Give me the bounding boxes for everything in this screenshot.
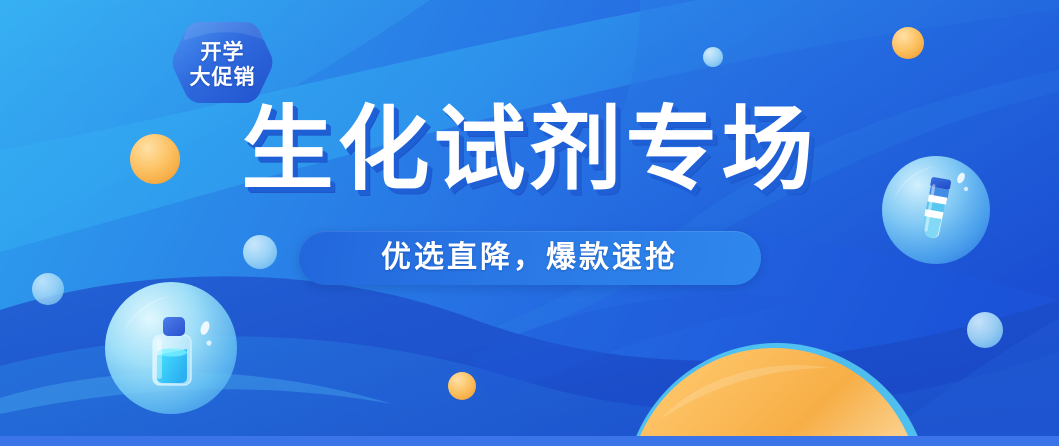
banner-subtitle-text: 优选直降，爆款速抢 <box>381 243 678 273</box>
banner-subtitle-pill[interactable]: 优选直降，爆款速抢 <box>299 231 761 285</box>
banner-title: 生化试剂专场 <box>0 104 1059 196</box>
blue-dot-left-edge <box>32 273 64 305</box>
orange-dot-bottom-center <box>448 372 476 400</box>
blue-dot-mid-left <box>243 235 277 269</box>
promo-banner: 开学 大促销 生化试剂专场 优选直降，爆款速抢 <box>0 0 1059 446</box>
badge-line-1: 开学 <box>201 42 245 65</box>
blue-dot-right-lower <box>967 312 1003 348</box>
blue-dot-small-top <box>703 47 723 67</box>
banner-title-text: 生化试剂专场 <box>241 104 817 196</box>
badge-line-2: 大促销 <box>190 67 256 90</box>
reagent-bottle-in-bubble <box>104 281 238 415</box>
orange-dot-top-right <box>892 27 924 59</box>
